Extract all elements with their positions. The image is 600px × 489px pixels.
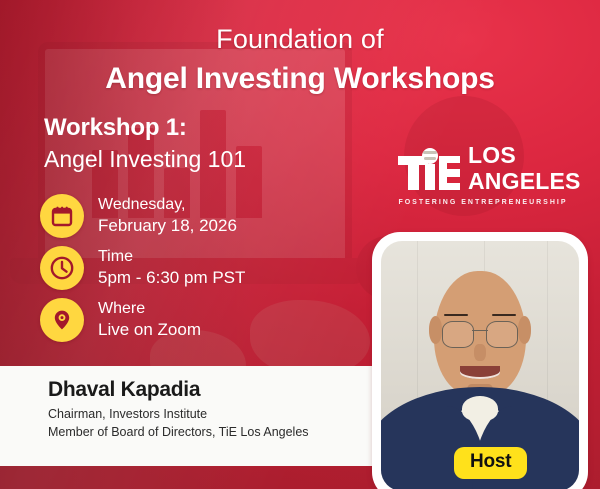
tie-letter-i [425,164,435,190]
poster-heading: Foundation of Angel Investing Workshops [0,24,600,97]
heading-line-2: Angel Investing Workshops [0,61,600,97]
logo-city-line2: ANGELES [468,170,581,193]
event-poster: Foundation of Angel Investing Workshops … [0,0,600,489]
detail-location-line2: Live on Zoom [98,319,201,341]
photo-eyeglass-left [442,321,474,348]
detail-text-time: Time 5pm - 6:30 pm PST [98,247,245,289]
tie-wordmark-icon [398,148,460,190]
speaker-role-line1: Chairman, Investors Institute [48,407,207,421]
detail-text-date: Wednesday, February 18, 2026 [98,195,237,237]
workshop-block: Workshop 1: Angel Investing 101 [44,113,246,174]
globe-icon [422,148,438,164]
detail-row-location: Where Live on Zoom [40,298,245,342]
detail-date-line1: Wednesday, [98,195,237,215]
clock-icon [40,246,84,290]
photo-nose [474,344,486,362]
logo-tagline: FOSTERING ENTREPRENEURSHIP [398,199,568,206]
heading-line-1: Foundation of [0,24,600,56]
tie-letter-e [439,156,460,190]
detail-time-line1: Time [98,247,245,267]
detail-date-line2: February 18, 2026 [98,215,237,237]
workshop-number: Workshop 1: [44,113,246,142]
photo-ear-right [518,316,532,344]
tie-los-angeles-logo: LOS ANGELES FOSTERING ENTREPRENEURSHIP [398,144,568,206]
photo-ear-left [429,316,443,344]
location-pin-icon [40,298,84,342]
workshop-title: Angel Investing 101 [44,145,246,174]
detail-row-date: Wednesday, February 18, 2026 [40,194,245,238]
photo-eyeglass-right [486,321,518,348]
calendar-icon [40,194,84,238]
photo-smile [460,366,500,379]
photo-eyeglass-bridge [472,330,488,332]
photo-eyebrow-right [492,314,516,316]
detail-time-line2: 5pm - 6:30 pm PST [98,267,245,289]
detail-location-line1: Where [98,299,201,319]
detail-row-time: Time 5pm - 6:30 pm PST [40,246,245,290]
speaker-name: Dhaval Kapadia [48,378,200,402]
photo-collar [462,396,498,421]
speaker-role-line2: Member of Board of Directors, TiE Los An… [48,425,309,439]
logo-city-name: LOS ANGELES [468,144,581,193]
event-details-list: Wednesday, February 18, 2026 Time 5pm - … [40,194,245,350]
logo-city-line1: LOS [468,142,516,168]
photo-eyebrow-left [444,314,468,316]
logo-main-row: LOS ANGELES [398,144,568,193]
host-badge: Host [454,447,527,479]
detail-text-location: Where Live on Zoom [98,299,201,341]
